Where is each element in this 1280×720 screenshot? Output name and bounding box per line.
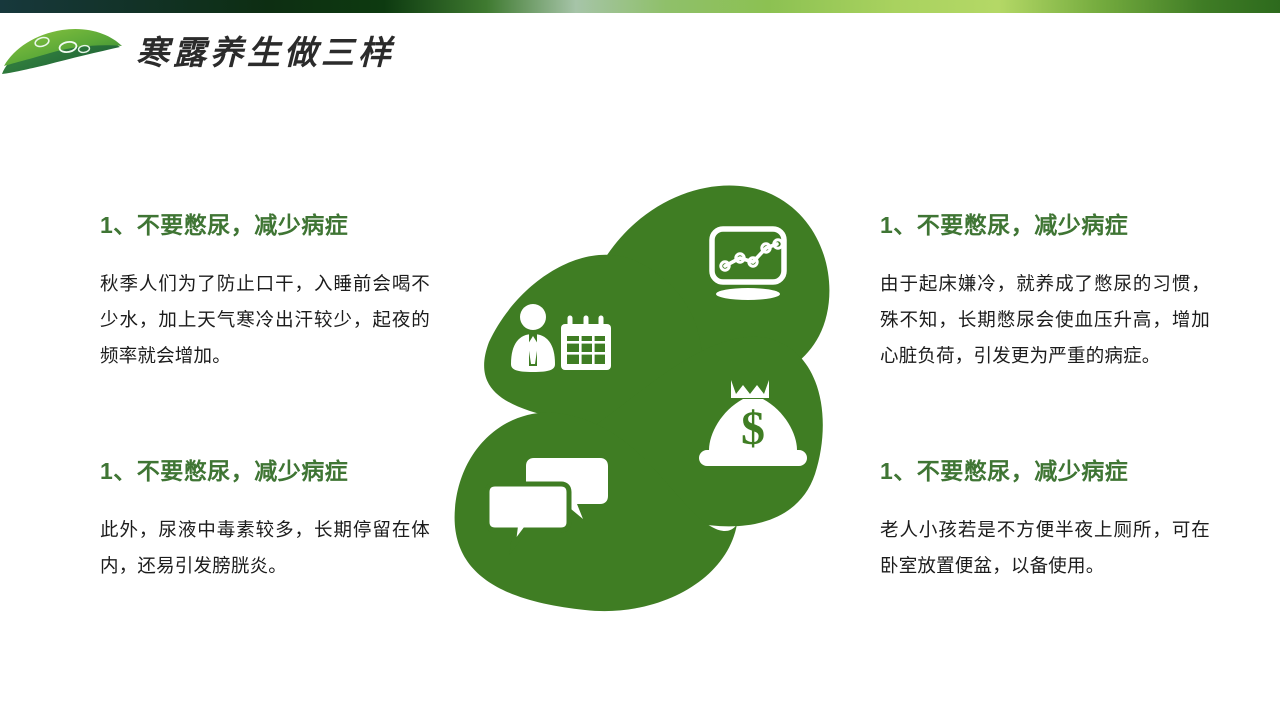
- block-heading: 1、不要憋尿，减少病症: [100, 458, 430, 486]
- text-block-top-right: 1、不要憋尿，减少病症 由于起床嫌冷，就养成了憋尿的习惯，殊不知，长期憋尿会使血…: [880, 212, 1210, 374]
- four-petal-pinwheel-graphic: $: [437, 178, 847, 614]
- text-block-bottom-left: 1、不要憋尿，减少病症 此外，尿液中毒素较多，长期停留在体内，还易引发膀胱炎。: [100, 458, 430, 584]
- top-gradient-banner: [0, 0, 1280, 13]
- block-body: 此外，尿液中毒素较多，长期停留在体内，还易引发膀胱炎。: [100, 512, 430, 584]
- page-title: 寒露养生做三样: [136, 26, 395, 74]
- svg-text:$: $: [741, 402, 765, 455]
- text-block-bottom-right: 1、不要憋尿，减少病症 老人小孩若是不方便半夜上厕所，可在卧室放置便盆，以备使用…: [880, 458, 1210, 584]
- text-block-top-left: 1、不要憋尿，减少病症 秋季人们为了防止口干，入睡前会喝不少水，加上天气寒冷出汗…: [100, 212, 430, 374]
- block-body: 秋季人们为了防止口干，入睡前会喝不少水，加上天气寒冷出汗较少，起夜的频率就会增加…: [100, 266, 430, 374]
- block-heading: 1、不要憋尿，减少病症: [880, 212, 1210, 240]
- leaf-with-dew-logo: [2, 22, 124, 74]
- slide-root: 寒露养生做三样 1、不要憋尿，减少病症 秋季人们为了防止口干，入睡前会喝不少水，…: [0, 0, 1280, 720]
- block-body: 由于起床嫌冷，就养成了憋尿的习惯，殊不知，长期憋尿会使血压升高，增加心脏负荷，引…: [880, 266, 1210, 374]
- block-heading: 1、不要憋尿，减少病症: [880, 458, 1210, 486]
- block-body: 老人小孩若是不方便半夜上厕所，可在卧室放置便盆，以备使用。: [880, 512, 1210, 584]
- block-heading: 1、不要憋尿，减少病症: [100, 212, 430, 240]
